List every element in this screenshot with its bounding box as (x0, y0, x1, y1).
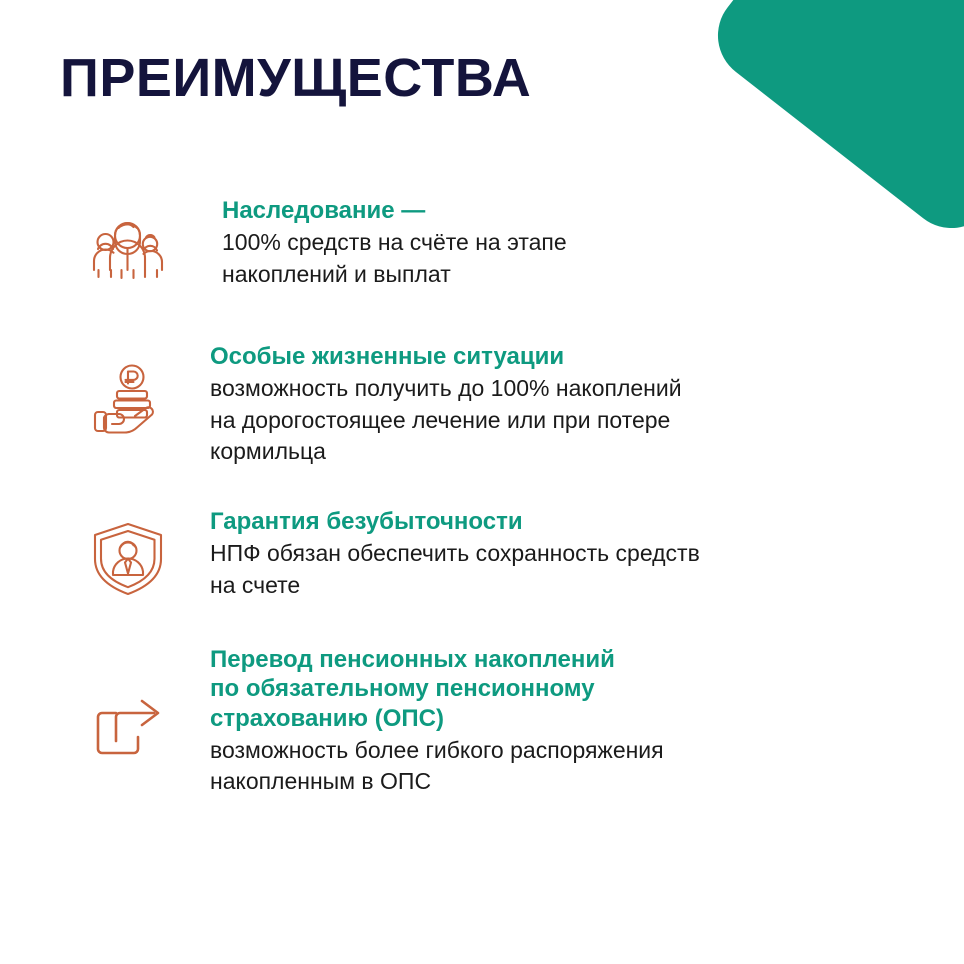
heading-line: Гарантия безубыточности (210, 507, 814, 536)
benefit-item-special-situations: Особые жизненные ситуации возможность по… (0, 342, 964, 467)
hand-with-coins-ruble-icon (68, 342, 188, 444)
body-line: на счете (210, 570, 814, 601)
shield-person-icon (68, 507, 188, 601)
benefit-text-inheritance: Наследование — 100% средств на счёте на … (188, 196, 964, 290)
body-line: накоплений и выплат (222, 259, 744, 290)
benefit-item-transfer: Перевод пенсионных накоплений по обязате… (0, 645, 964, 797)
family-icon (68, 196, 188, 290)
heading-line: страхованию (ОПС) (210, 704, 784, 733)
body-line: 100% средств на счёте на этапе (222, 227, 744, 258)
heading-line: Особые жизненные ситуации (210, 342, 814, 371)
heading-line: по обязательному пенсионному (210, 674, 784, 703)
benefit-item-inheritance: Наследование — 100% средств на счёте на … (0, 196, 964, 290)
benefits-list: Наследование — 100% средств на счёте на … (0, 196, 964, 797)
heading-line: Наследование — (222, 196, 744, 225)
benefit-heading-special-situations: Особые жизненные ситуации (210, 342, 814, 371)
body-line: возможность более гибкого распоряжения (210, 735, 784, 766)
benefit-heading-guarantee: Гарантия безубыточности (210, 507, 814, 536)
body-line: кормильца (210, 436, 814, 467)
heading-line: Перевод пенсионных накоплений (210, 645, 784, 674)
slide-root: ПРЕИМУЩЕСТВА (0, 0, 964, 964)
body-line: на дорогостоящее лечение или при потере (210, 405, 814, 436)
body-line: возможность получить до 100% накоплений (210, 373, 814, 404)
benefit-text-guarantee: Гарантия безубыточности НПФ обязан обесп… (188, 507, 964, 601)
benefit-body-special-situations: возможность получить до 100% накоплений … (210, 373, 814, 467)
benefit-text-special-situations: Особые жизненные ситуации возможность по… (188, 342, 964, 467)
benefit-heading-transfer: Перевод пенсионных накоплений по обязате… (210, 645, 784, 733)
benefit-heading-inheritance: Наследование — (222, 196, 744, 225)
body-line: накопленным в ОПС (210, 766, 784, 797)
benefit-item-guarantee: Гарантия безубыточности НПФ обязан обесп… (0, 507, 964, 601)
benefit-body-inheritance: 100% средств на счёте на этапе накоплени… (222, 227, 744, 290)
body-line: НПФ обязан обеспечить сохранность средст… (210, 538, 814, 569)
page-title: ПРЕИМУЩЕСТВА (60, 50, 531, 107)
benefit-text-transfer: Перевод пенсионных накоплений по обязате… (188, 645, 964, 797)
share-export-arrow-icon (68, 645, 188, 775)
benefit-body-transfer: возможность более гибкого распоряжения н… (210, 735, 784, 798)
benefit-body-guarantee: НПФ обязан обеспечить сохранность средст… (210, 538, 814, 601)
